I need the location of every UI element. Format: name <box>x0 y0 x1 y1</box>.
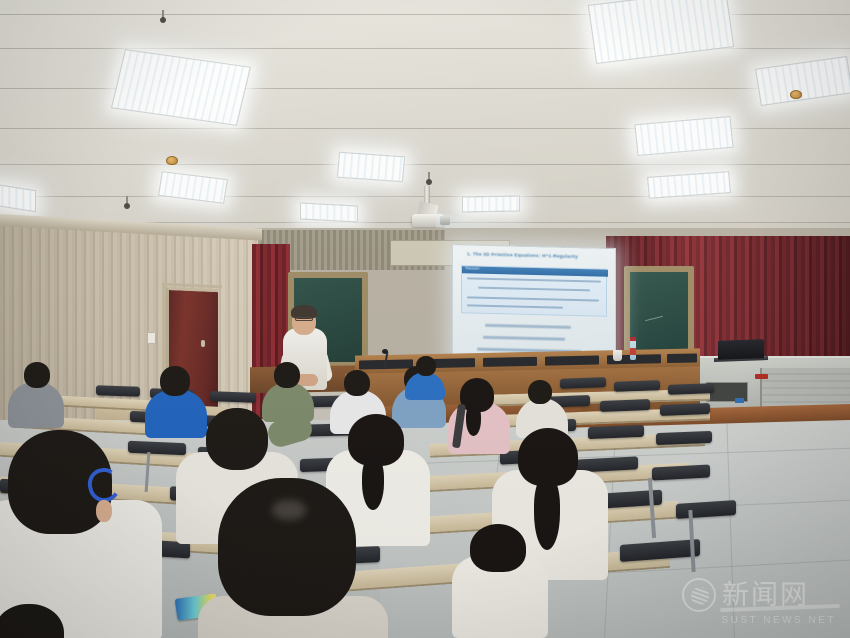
chair-back <box>614 380 660 392</box>
theorem-header-bar: Theorem <box>462 266 608 277</box>
attendee-ponytail <box>362 456 384 510</box>
chair-back <box>668 383 714 395</box>
bench-seat <box>667 353 697 363</box>
attendee-hair <box>470 524 526 572</box>
chair-back <box>128 441 186 456</box>
theorem-label: Theorem <box>465 267 479 271</box>
sprinkler-head <box>160 10 166 23</box>
slide-title: 1. The 3D Primitive Equations: H^1-Regul… <box>467 251 609 259</box>
sprinkler-head <box>124 196 130 209</box>
bottle-label <box>630 348 636 355</box>
attendee-head <box>218 478 356 616</box>
chair-back <box>660 403 710 416</box>
sprinkler-head <box>426 172 432 185</box>
attendee-head <box>24 362 50 388</box>
smoke-detector <box>790 90 802 99</box>
chair-back <box>656 431 712 445</box>
attendee-ponytail <box>466 404 481 436</box>
console-red-label <box>755 374 768 379</box>
attendee-body <box>8 382 64 428</box>
slide-equation <box>485 324 571 329</box>
bench-seat <box>483 357 537 367</box>
theorem-text-line <box>467 296 599 302</box>
light-switch[interactable] <box>147 332 156 344</box>
presenter-glasses-icon <box>295 317 313 321</box>
attendee-head <box>416 356 436 376</box>
attendee-hair-highlight <box>272 500 306 520</box>
lecture-hall-photo: 1. The 3D Primitive Equations: H^1-Regul… <box>0 0 850 638</box>
chair-back <box>600 399 650 412</box>
chair-back <box>560 377 606 389</box>
attendee-ear <box>96 500 112 522</box>
paper-cup <box>613 350 622 361</box>
attendee-head <box>528 380 552 404</box>
slide-equation <box>483 336 565 341</box>
chair-back <box>588 425 644 439</box>
smoke-detector <box>166 156 178 165</box>
theorem-text-line <box>478 287 590 292</box>
attendee-head <box>274 362 300 388</box>
chair-back <box>96 385 140 397</box>
attendee-head <box>160 366 190 396</box>
panel-light <box>462 195 520 212</box>
attendee-head <box>344 370 370 396</box>
news-watermark: 新闻网 SUST NEWS NET <box>682 560 842 630</box>
microphone-icon <box>382 349 388 354</box>
bench-seat <box>545 356 599 366</box>
chair-back <box>210 391 256 403</box>
door-knob[interactable] <box>201 340 205 347</box>
theorem-text-line <box>467 277 601 283</box>
presenter-laptop[interactable] <box>718 339 764 360</box>
projector-lens-icon <box>440 216 450 225</box>
panel-light <box>300 202 358 222</box>
panel-light <box>337 152 405 182</box>
bottle-cap <box>630 337 636 341</box>
watermark-logo-icon <box>682 578 716 612</box>
attendee-ponytail <box>534 476 560 550</box>
attendee-head <box>206 408 268 470</box>
theorem-text-line <box>467 304 563 309</box>
console-blue-tag <box>735 398 744 403</box>
watermark-english-text: SUST NEWS NET <box>721 615 836 626</box>
slide-theorem-box: Theorem <box>461 265 607 317</box>
attendee-body <box>145 390 207 438</box>
